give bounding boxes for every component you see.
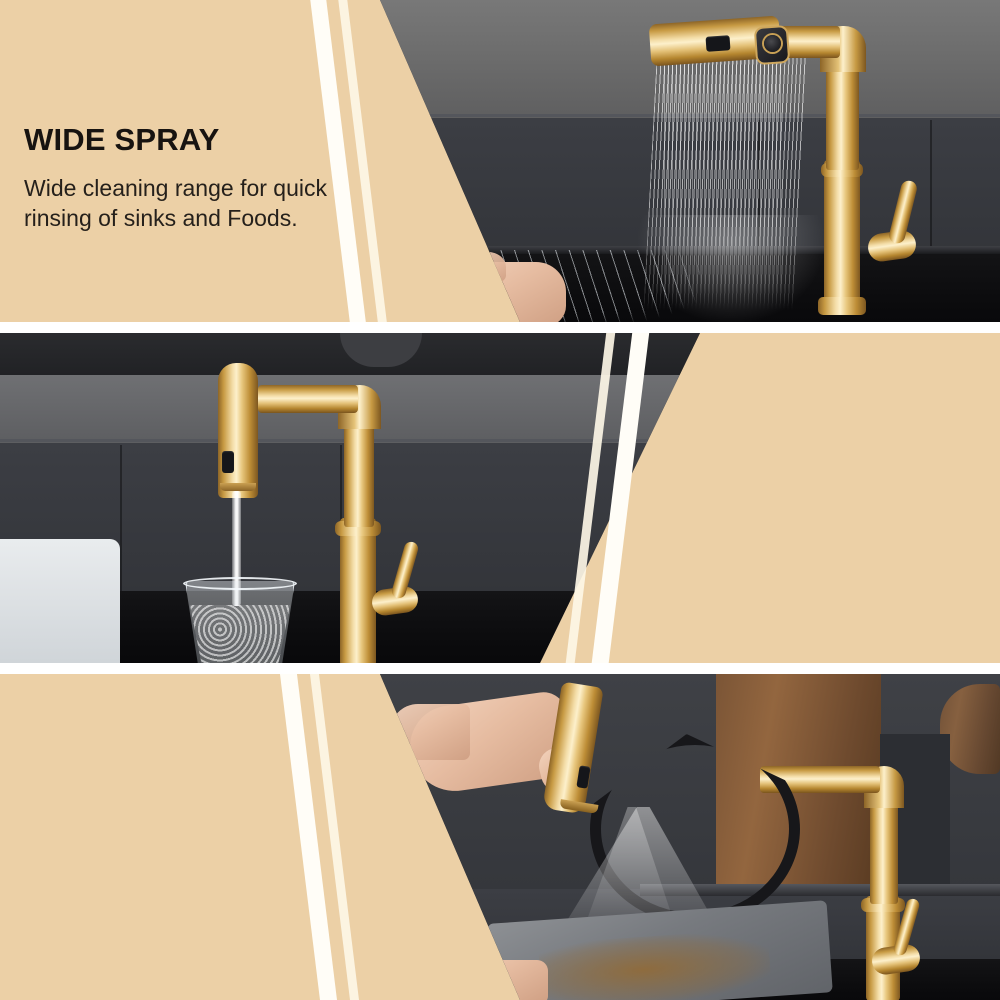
cabinet-panel bbox=[0, 443, 1000, 593]
faucet-base bbox=[818, 297, 866, 315]
panel-aerated-stream: AERATED STREAM No splashing, daily clean… bbox=[0, 333, 1000, 663]
supporting-hand bbox=[438, 960, 548, 1000]
white-sink bbox=[0, 539, 120, 663]
hand bbox=[448, 262, 566, 322]
water-mist bbox=[636, 215, 826, 322]
photo-sweep-spray bbox=[0, 674, 1000, 1000]
faucet-body bbox=[824, 160, 860, 310]
spout-outlet bbox=[220, 483, 256, 491]
mode-button[interactable] bbox=[706, 35, 731, 52]
scene-sweep-spray bbox=[0, 674, 1000, 1000]
black-countertop bbox=[0, 959, 1000, 1000]
forearm bbox=[390, 704, 470, 760]
scene-aerated-stream bbox=[0, 333, 1000, 663]
divider-stripe-outer bbox=[275, 674, 342, 1000]
infographic-canvas: WIDE SPRAY Wide cleaning range for quick… bbox=[0, 0, 1000, 1000]
panel-sweep-spray: SWEEP SPRAY Powerful water mode for clea… bbox=[0, 674, 1000, 1000]
counter-edge-line bbox=[0, 439, 1000, 442]
backsplash-wall bbox=[0, 375, 1000, 443]
thumb bbox=[470, 252, 506, 282]
heading-wide-spray: WIDE SPRAY bbox=[24, 122, 384, 158]
faucet-body bbox=[340, 518, 376, 663]
cup-rim bbox=[183, 577, 297, 590]
body-wide-spray: Wide cleaning range for quick rinsing of… bbox=[24, 174, 384, 234]
cup-water-bubbles bbox=[190, 605, 290, 663]
faucet-arm bbox=[258, 385, 358, 413]
mode-button[interactable] bbox=[222, 451, 234, 473]
cabinet-grout-line bbox=[120, 445, 122, 591]
text-block-wide-spray: WIDE SPRAY Wide cleaning range for quick… bbox=[24, 122, 384, 234]
divider-stripe-inner bbox=[305, 674, 364, 1000]
black-countertop bbox=[0, 591, 1000, 663]
dial-icon[interactable] bbox=[764, 35, 781, 52]
upper-dark-band bbox=[0, 333, 1000, 375]
cabinet-grout-line bbox=[930, 120, 932, 250]
panel-wide-spray: WIDE SPRAY Wide cleaning range for quick… bbox=[0, 0, 1000, 322]
photo-aerated-stream bbox=[0, 333, 1000, 663]
spout-head bbox=[218, 363, 258, 498]
